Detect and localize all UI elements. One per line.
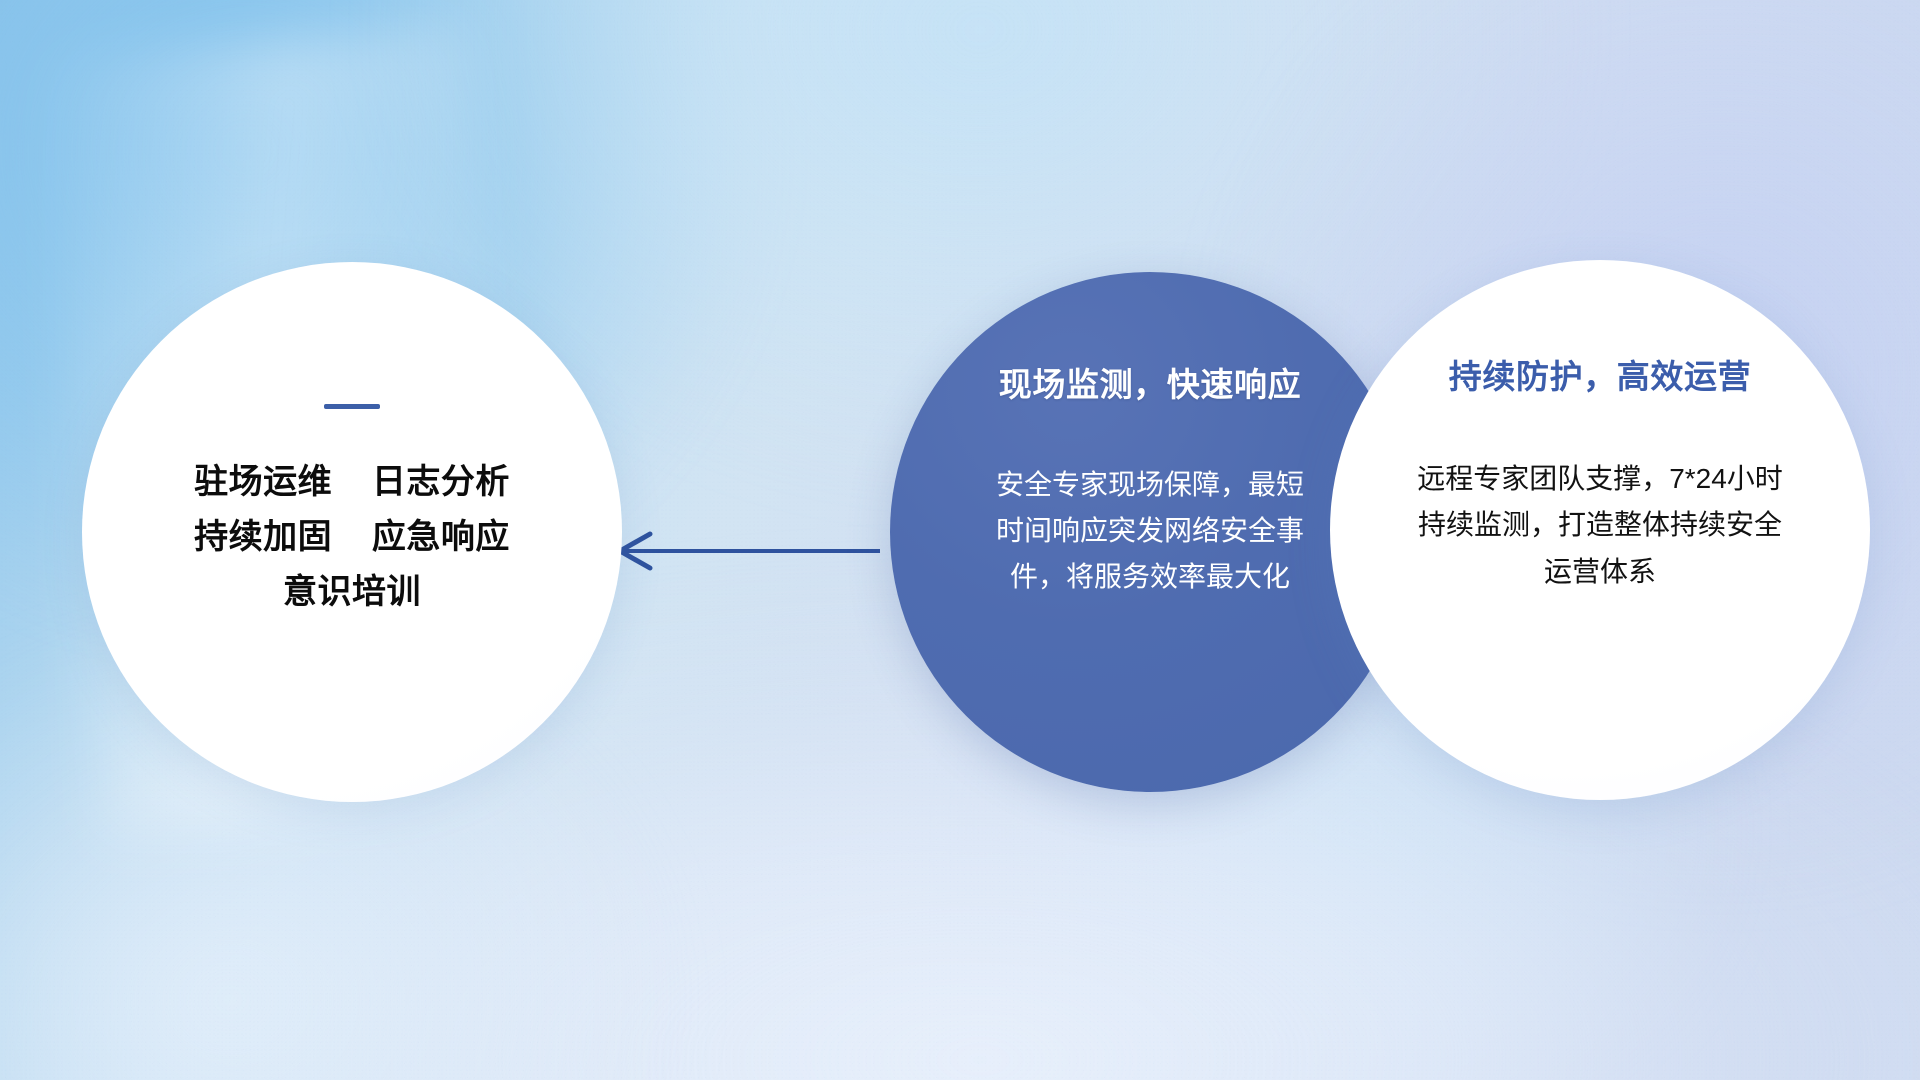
list-item: 驻场运维 日志分析 [194,455,510,510]
capability-circle-right: 持续防护，高效运营 远程专家团队支撑，7*24小时持续监测，打造整体持续安全运营… [1330,260,1870,800]
diagram-canvas: 驻场运维 日志分析 持续加固 应急响应 意识培训 现场监测，快速响应 安全专家现… [0,0,1920,1080]
middle-circle-title: 现场监测，快速响应 [999,358,1301,406]
list-item: 持续加固 应急响应 [194,510,510,565]
capability-list: 驻场运维 日志分析 持续加固 应急响应 意识培训 [194,455,510,620]
right-circle-title: 持续防护，高效运营 [1449,350,1751,398]
list-item: 意识培训 [194,565,510,620]
right-circle-body: 远程专家团队支撑，7*24小时持续监测，打造整体持续安全运营体系 [1407,456,1793,595]
capability-circle-left: 驻场运维 日志分析 持续加固 应急响应 意识培训 [82,262,622,802]
divider-dash [324,404,380,409]
middle-circle-body: 安全专家现场保障，最短时间响应突发网络安全事件，将服务效率最大化 [985,462,1315,601]
